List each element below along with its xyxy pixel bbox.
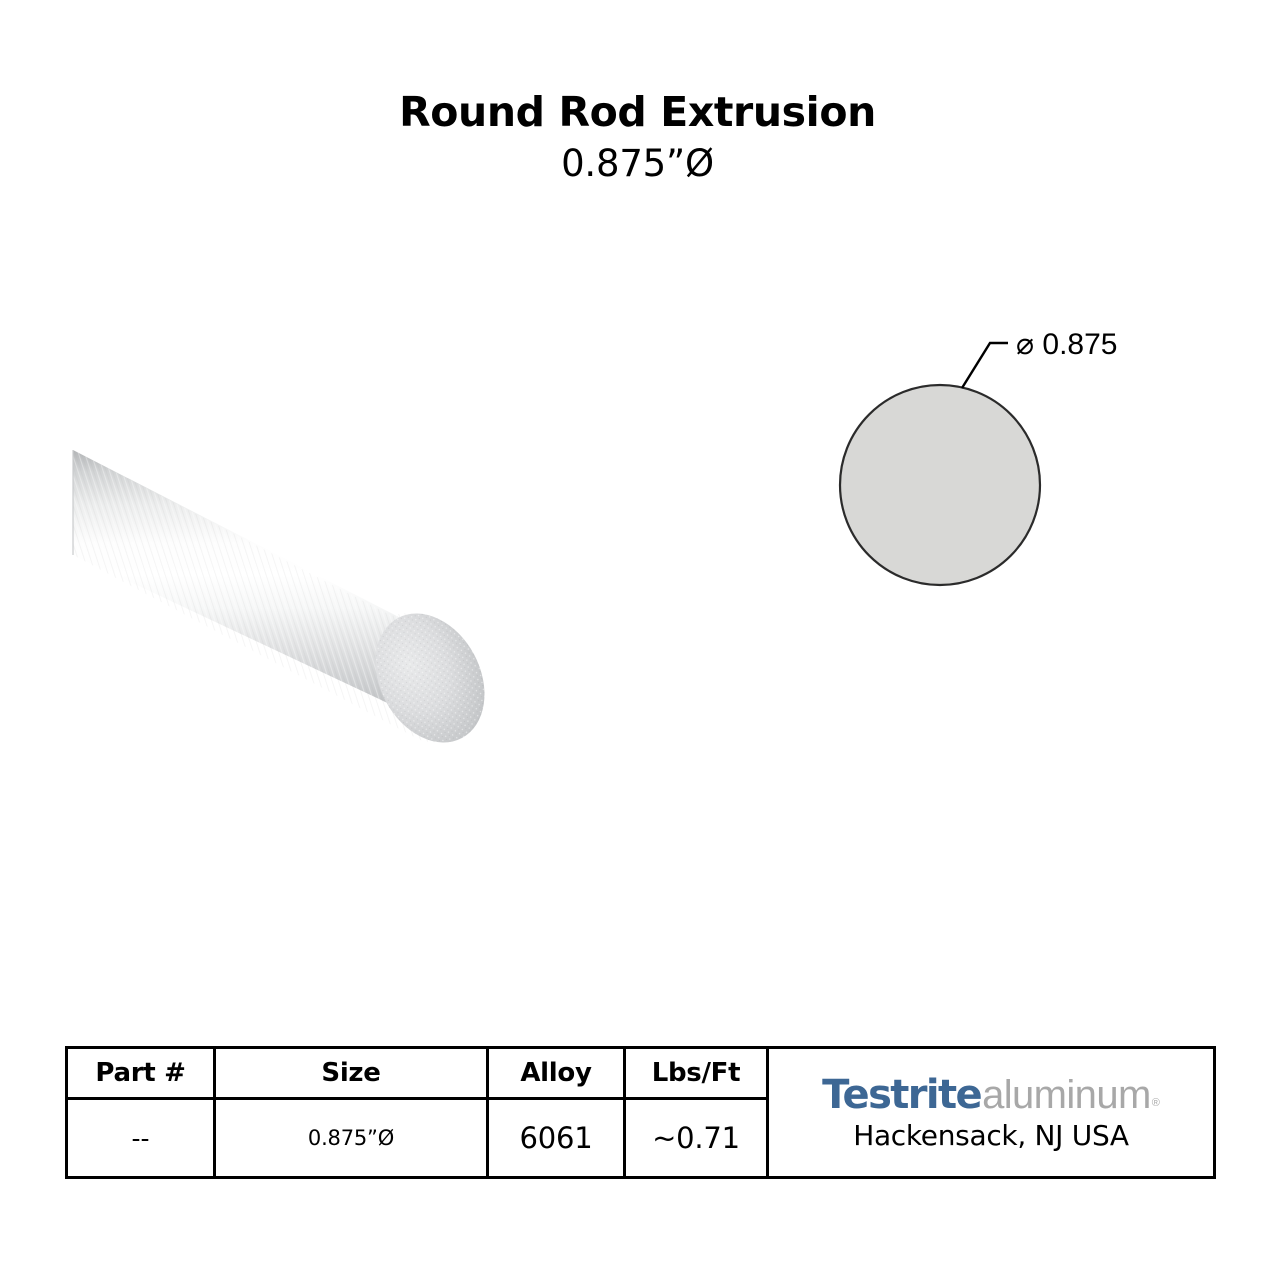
logo-wordmark: Testritealuminum® [822, 1075, 1160, 1115]
logo-cell: Testritealuminum® Hackensack, NJ USA [768, 1048, 1215, 1178]
cell-part-number: -- [67, 1099, 215, 1178]
cell-alloy: 6061 [488, 1099, 625, 1178]
cell-lbs-per-ft: ~0.71 [625, 1099, 768, 1178]
spec-sheet: Round Rod Extrusion 0.875”Ø [0, 0, 1275, 1275]
spec-table: Part # Size Alloy Lbs/Ft Testritealuminu… [65, 1046, 1216, 1179]
diameter-leader-line [962, 343, 1008, 388]
diameter-callout-label: ⌀ 0.875 [1016, 328, 1117, 361]
drawing-svg: ⌀ 0.875 [0, 0, 1275, 1030]
column-header-size: Size [215, 1048, 488, 1099]
round-cross-section [840, 385, 1040, 585]
table-header-row: Part # Size Alloy Lbs/Ft Testritealuminu… [67, 1048, 1215, 1099]
drawing-area: ⌀ 0.875 [0, 0, 1275, 1030]
logo-brand-light: aluminum [982, 1075, 1151, 1115]
company-location: Hackensack, NJ USA [853, 1122, 1129, 1150]
spec-table-container: Part # Size Alloy Lbs/Ft Testritealuminu… [65, 1046, 1213, 1179]
company-logo: Testritealuminum® Hackensack, NJ USA [769, 1075, 1213, 1150]
cell-size: 0.875”Ø [215, 1099, 488, 1178]
logo-brand-bold: Testrite [822, 1075, 981, 1115]
round-rod-3d [60, 430, 506, 762]
column-header-alloy: Alloy [488, 1048, 625, 1099]
column-header-lbs-ft: Lbs/Ft [625, 1048, 768, 1099]
cross-section-circle [840, 385, 1040, 585]
column-header-part: Part # [67, 1048, 215, 1099]
registered-trademark-icon: ® [1152, 1098, 1160, 1109]
